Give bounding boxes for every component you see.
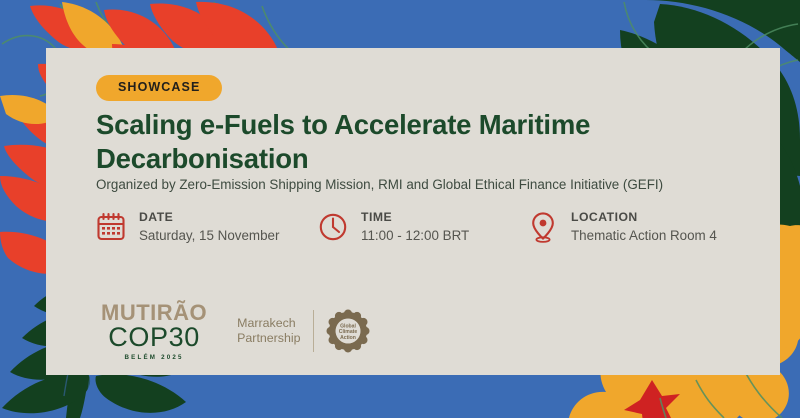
- global-climate-action-emblem-icon: Global Climate Action: [326, 309, 370, 353]
- cop30-place-text: BELÉM 2025: [125, 354, 184, 361]
- organizers-text: Organized by Zero-Emission Shipping Miss…: [96, 176, 776, 193]
- marrakech-line-2: Partnership: [237, 331, 300, 345]
- showcase-badge: SHOWCASE: [96, 75, 222, 101]
- meta-value-location: Thematic Action Room 4: [571, 227, 717, 244]
- marrakech-line-1: Marrakech: [237, 316, 296, 330]
- meta-item-time: TIME 11:00 - 12:00 BRT: [316, 208, 526, 246]
- logo-divider: [313, 310, 314, 352]
- meta-label-time: TIME: [361, 210, 469, 225]
- event-meta-row: DATE Saturday, 15 November TIME 11:00 - …: [94, 208, 760, 246]
- meta-label-location: LOCATION: [571, 210, 717, 225]
- calendar-icon: [94, 208, 128, 246]
- event-card-canvas: SHOWCASE Scaling e-Fuels to Accelerate M…: [0, 0, 800, 418]
- marrakech-partnership-text: Marrakech Partnership: [237, 316, 312, 347]
- marrakech-partnership-logo: Marrakech Partnership: [237, 309, 369, 353]
- logo-row: MUTIRÃO COP30 BELÉM 2025 Marrakech Partn…: [101, 302, 370, 361]
- cop30-mutirao-text: MUTIRÃO: [101, 302, 207, 324]
- emblem-line-3: Action: [340, 335, 356, 341]
- page-title: Scaling e-Fuels to Accelerate Maritime D…: [96, 108, 736, 175]
- meta-label-date: DATE: [139, 210, 279, 225]
- clock-icon: [316, 208, 350, 246]
- cop30-name-text: COP30: [108, 323, 200, 351]
- meta-item-location: LOCATION Thematic Action Room 4: [526, 208, 760, 246]
- meta-value-time: 11:00 - 12:00 BRT: [361, 227, 469, 244]
- event-card: SHOWCASE Scaling e-Fuels to Accelerate M…: [46, 48, 780, 375]
- location-pin-icon: [526, 208, 560, 246]
- meta-value-date: Saturday, 15 November: [139, 227, 279, 244]
- meta-item-date: DATE Saturday, 15 November: [94, 208, 316, 246]
- cop30-logo: MUTIRÃO COP30 BELÉM 2025: [101, 302, 207, 361]
